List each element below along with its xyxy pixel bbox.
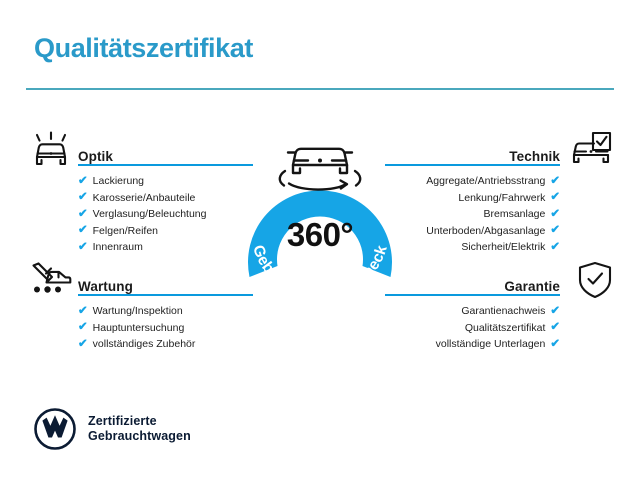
list-item-label: Innenraum	[93, 239, 143, 256]
check-icon: ✔	[550, 242, 560, 254]
car-shine-icon	[28, 129, 74, 171]
list-item-label: Aggregate/Antriebsstrang	[426, 173, 545, 190]
header-divider	[26, 88, 614, 90]
list-item: ✔Hauptuntersuchung	[78, 320, 253, 337]
list-item: Qualitätszertifikat✔	[385, 320, 560, 337]
check-icon: ✔	[550, 306, 560, 318]
check-icon: ✔	[550, 225, 560, 237]
check-icon: ✔	[78, 339, 88, 351]
check-icon: ✔	[78, 225, 88, 237]
check-icon: ✔	[550, 176, 560, 188]
list-item-label: Felgen/Reifen	[93, 223, 158, 240]
car-checkbox-icon	[568, 129, 614, 171]
car-service-wrench-icon	[28, 259, 74, 301]
certificate-page: Qualitätszertifikat Optik ✔Lackierung ✔K…	[0, 0, 640, 480]
footer-text: Zertifizierte Gebrauchtwagen	[88, 414, 191, 444]
badge-center-label: 360°	[222, 216, 418, 254]
footer-line-1: Zertifizierte	[88, 414, 191, 429]
check-icon: ✔	[550, 192, 560, 204]
list-item-label: Lenkung/Fahrwerk	[458, 190, 545, 207]
check-icon: ✔	[550, 339, 560, 351]
check-icon: ✔	[78, 209, 88, 221]
list-item-label: Garantienachweis	[461, 303, 545, 320]
checklist-garantie: Garantienachweis✔ Qualitätszertifikat✔ v…	[385, 303, 560, 353]
list-item: ✔vollständiges Zubehör	[78, 336, 253, 353]
vw-logo-icon	[34, 408, 76, 450]
page-title: Qualitätszertifikat	[34, 33, 253, 64]
footer-logo-block: Zertifizierte Gebrauchtwagen	[34, 408, 191, 450]
check-icon: ✔	[78, 322, 88, 334]
list-item-label: vollständige Unterlagen	[436, 336, 546, 353]
section-title-optik: Optik	[78, 149, 113, 164]
list-item-label: Sicherheit/Elektrik	[461, 239, 545, 256]
list-item-label: Hauptuntersuchung	[93, 320, 185, 337]
check-icon: ✔	[78, 192, 88, 204]
section-title-wartung: Wartung	[78, 279, 133, 294]
list-item-label: vollständiges Zubehör	[93, 336, 196, 353]
shield-check-icon	[572, 259, 618, 301]
list-item-label: Qualitätszertifikat	[465, 320, 546, 337]
list-item-label: Bremsanlage	[483, 206, 545, 223]
check-icon: ✔	[78, 242, 88, 254]
check-icon: ✔	[550, 209, 560, 221]
check-icon: ✔	[78, 176, 88, 188]
footer-line-2: Gebrauchtwagen	[88, 429, 191, 444]
checklist-wartung: ✔Wartung/Inspektion ✔Hauptuntersuchung ✔…	[78, 303, 253, 353]
list-item-label: Lackierung	[93, 173, 144, 190]
section-title-garantie: Garantie	[504, 279, 560, 294]
section-title-technik: Technik	[509, 149, 560, 164]
list-item: vollständige Unterlagen✔	[385, 336, 560, 353]
check-icon: ✔	[550, 322, 560, 334]
check-badge: Gebrauchtwagen-Check 360°	[222, 120, 418, 310]
list-item-label: Verglasung/Beleuchtung	[93, 206, 207, 223]
list-item-label: Unterboden/Abgasanlage	[426, 223, 545, 240]
check-icon: ✔	[78, 306, 88, 318]
list-item-label: Karosserie/Anbauteile	[93, 190, 196, 207]
list-item-label: Wartung/Inspektion	[93, 303, 183, 320]
